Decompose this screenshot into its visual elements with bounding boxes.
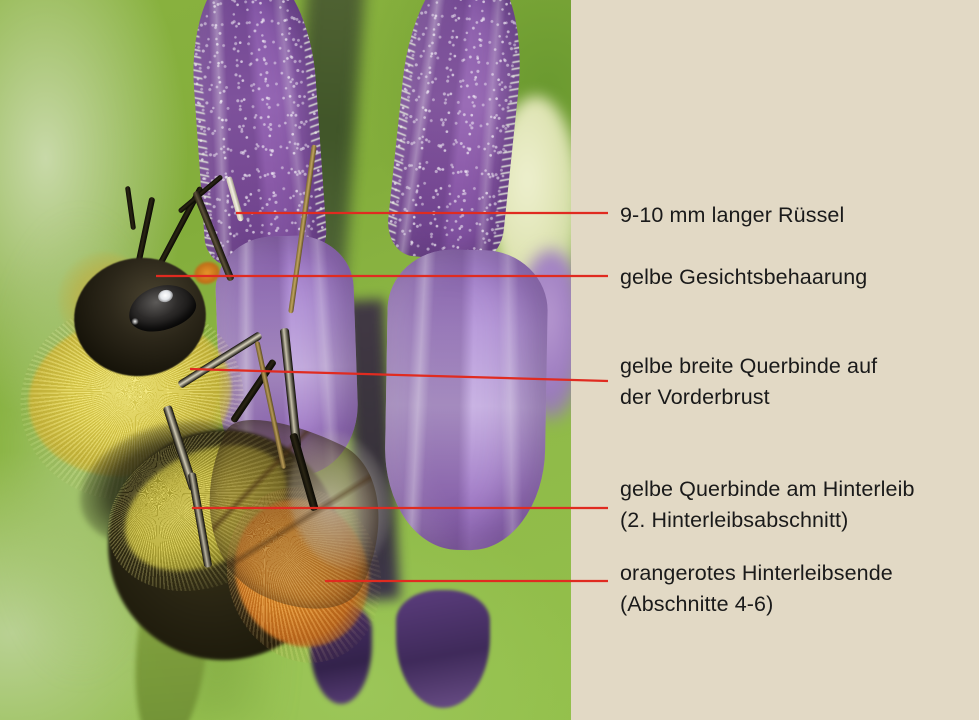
annotation-label-thorax-band: gelbe breite Querbinde auf der Vorderbru… bbox=[620, 351, 877, 413]
annotation-label-proboscis: 9-10 mm langer Rüssel bbox=[620, 200, 844, 231]
proboscis-tip bbox=[226, 176, 244, 222]
annotation-label-face-hair: gelbe Gesichtsbehaarung bbox=[620, 262, 867, 293]
antenna-lower-segment bbox=[125, 186, 136, 230]
annotation-label-abdomen-tip: orangerotes Hinterleibsende (Abschnitte … bbox=[620, 558, 893, 620]
flower-filament-upper bbox=[288, 144, 317, 313]
bumblebee bbox=[0, 0, 571, 720]
eye-highlight-small bbox=[131, 318, 139, 325]
annotated-photo-figure: 9-10 mm langer Rüssel gelbe Gesichtsbeha… bbox=[0, 0, 979, 720]
bumblebee-photograph bbox=[0, 0, 571, 720]
annotation-label-abdomen-band: gelbe Querbinde am Hinterleib (2. Hinter… bbox=[620, 474, 915, 536]
